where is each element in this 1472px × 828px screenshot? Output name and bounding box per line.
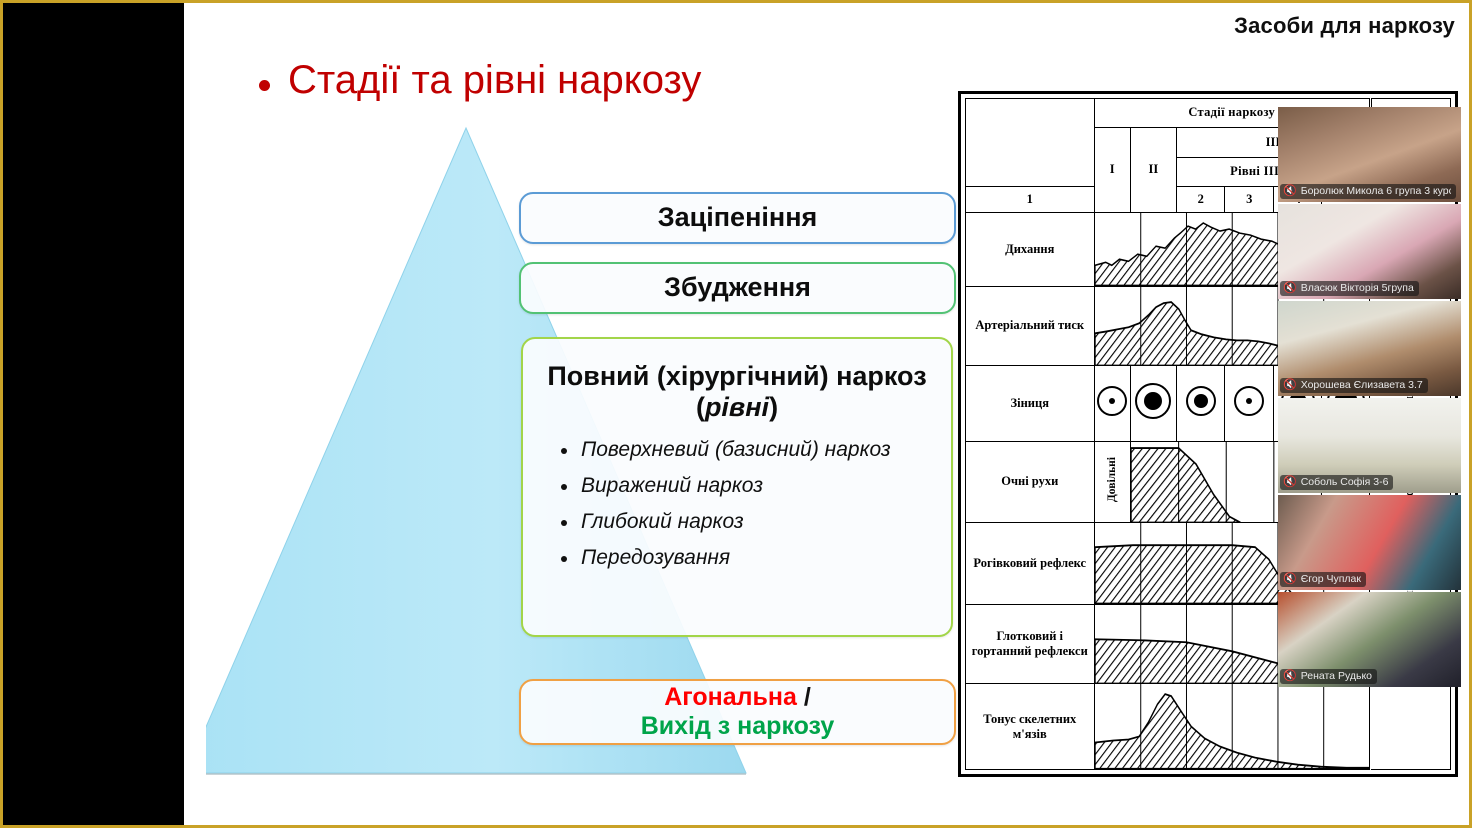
row-label-pharyngeal-reflexes: Глотковий і гортанний рефлекси <box>966 604 1095 684</box>
eye-movements-voluntary-cell: Довільні <box>1094 441 1130 523</box>
voluntary-label: Довільні <box>1106 457 1118 502</box>
participant-name-badge: 🔇 Єгор Чуплак <box>1280 572 1366 587</box>
row-graph-muscle-tone <box>1094 684 1370 770</box>
pupil-icon <box>1135 383 1171 419</box>
participant-name-badge: 🔇 Боролюк Микола 6 група 3 курс <box>1280 184 1456 199</box>
pupil-cell-4 <box>1225 366 1274 441</box>
header-level-2: 2 <box>1176 186 1225 213</box>
video-tile[interactable]: 🔇 Власюк Вікторія 5група <box>1278 204 1461 299</box>
participant-name: Соболь Софія 3-6 <box>1301 476 1389 488</box>
microphone-muted-icon: 🔇 <box>1283 671 1297 682</box>
row-label-eye-movements: Очні рухи <box>966 441 1095 523</box>
stage-4-line-b: Вихід з наркозу <box>521 712 954 741</box>
microphone-muted-icon: 🔇 <box>1283 283 1297 294</box>
pupil-icon <box>1234 386 1264 416</box>
video-participant-rail[interactable]: 🔇 Боролюк Микола 6 група 3 курс 🔇 Власюк… <box>1278 107 1461 687</box>
row-label-pupil: Зіниця <box>966 366 1095 441</box>
microphone-muted-icon: 🔇 <box>1283 574 1297 585</box>
header-stage-I: I <box>1094 127 1130 213</box>
video-tile[interactable]: 🔇 Соболь Софія 3-6 <box>1278 398 1461 493</box>
bullet-heading: Стадії та рівні наркозу <box>259 58 701 102</box>
stage-3-title-italic: рівні <box>705 392 769 422</box>
microphone-muted-icon: 🔇 <box>1283 380 1297 391</box>
list-item: Виражений наркоз <box>559 473 929 500</box>
header-level-3: 3 <box>1225 186 1274 213</box>
row-label-respiration: Дихання <box>966 213 1095 286</box>
pupil-cell-2 <box>1130 366 1176 441</box>
participant-name-badge: 🔇 Хорошева Єлизавета 3.7 <box>1280 378 1428 393</box>
video-tile[interactable]: 🔇 Рената Рудько <box>1278 592 1461 687</box>
bullet-dot-icon <box>259 80 270 91</box>
anesthesia-levels-list: Поверхневий (базисний) наркоз Виражений … <box>545 437 929 581</box>
stage-1-title: Заціпеніння <box>521 202 954 233</box>
microphone-muted-icon: 🔇 <box>1283 186 1297 197</box>
stage-4-slash: / <box>797 683 811 711</box>
participant-name-badge: 🔇 Соболь Софія 3-6 <box>1280 475 1393 490</box>
header-stage-II: II <box>1130 127 1176 213</box>
list-item: Передозування <box>559 545 929 572</box>
list-item: Поверхневий (базисний) наркоз <box>559 437 929 464</box>
table-corner-cell <box>966 99 1095 187</box>
stage-box-excitation[interactable]: Збудження <box>519 262 956 314</box>
stage-2-title: Збудження <box>521 272 954 303</box>
list-item: Глибокий наркоз <box>559 509 929 536</box>
stage-box-torpor[interactable]: Заціпеніння <box>519 192 956 244</box>
page-title: Засоби для наркозу <box>1234 13 1455 39</box>
pupil-icon <box>1097 386 1127 416</box>
screen-share-window: Засоби для наркозу Стадії та рівні нарко… <box>0 0 1472 828</box>
row-label-muscle-tone: Тонус скелетних м'язів <box>966 684 1095 770</box>
video-tile[interactable]: 🔇 Єгор Чуплак <box>1278 495 1461 590</box>
microphone-muted-icon: 🔇 <box>1283 477 1297 488</box>
participant-name-badge: 🔇 Рената Рудько <box>1280 669 1377 684</box>
stage-4-line-a: Агональна / <box>521 683 954 712</box>
stage-3-title-part2: ) <box>769 392 778 422</box>
video-tile[interactable]: 🔇 Боролюк Микола 6 група 3 курс <box>1278 107 1461 202</box>
header-level-1: 1 <box>966 186 1095 213</box>
stage-box-surgical-anesthesia[interactable]: Повний (хірургічний) наркоз (рівні) Пове… <box>521 337 953 637</box>
participant-name: Рената Рудько <box>1301 670 1372 682</box>
participant-name: Боролюк Микола 6 група 3 курс <box>1301 185 1451 197</box>
participant-name: Єгор Чуплак <box>1301 573 1361 585</box>
stage-box-agonal[interactable]: Агональна / Вихід з наркозу <box>519 679 956 745</box>
participant-name: Хорошева Єлизавета 3.7 <box>1301 379 1423 391</box>
bullet-heading-label: Стадії та рівні наркозу <box>288 58 701 102</box>
row-label-arterial-pressure: Артеріальний тиск <box>966 286 1095 366</box>
pupil-cell-1 <box>1094 366 1130 441</box>
stage-3-title: Повний (хірургічний) наркоз (рівні) <box>545 361 929 423</box>
row-label-corneal-reflex: Рогівковий рефлекс <box>966 523 1095 605</box>
pupil-icon <box>1186 386 1216 416</box>
video-tile[interactable]: 🔇 Хорошева Єлизавета 3.7 <box>1278 301 1461 396</box>
stage-4-agonal-label: Агональна <box>664 683 797 711</box>
participant-name: Власюк Вікторія 5група <box>1301 282 1414 294</box>
pupil-cell-3 <box>1176 366 1225 441</box>
participant-name-badge: 🔇 Власюк Вікторія 5група <box>1280 281 1419 296</box>
